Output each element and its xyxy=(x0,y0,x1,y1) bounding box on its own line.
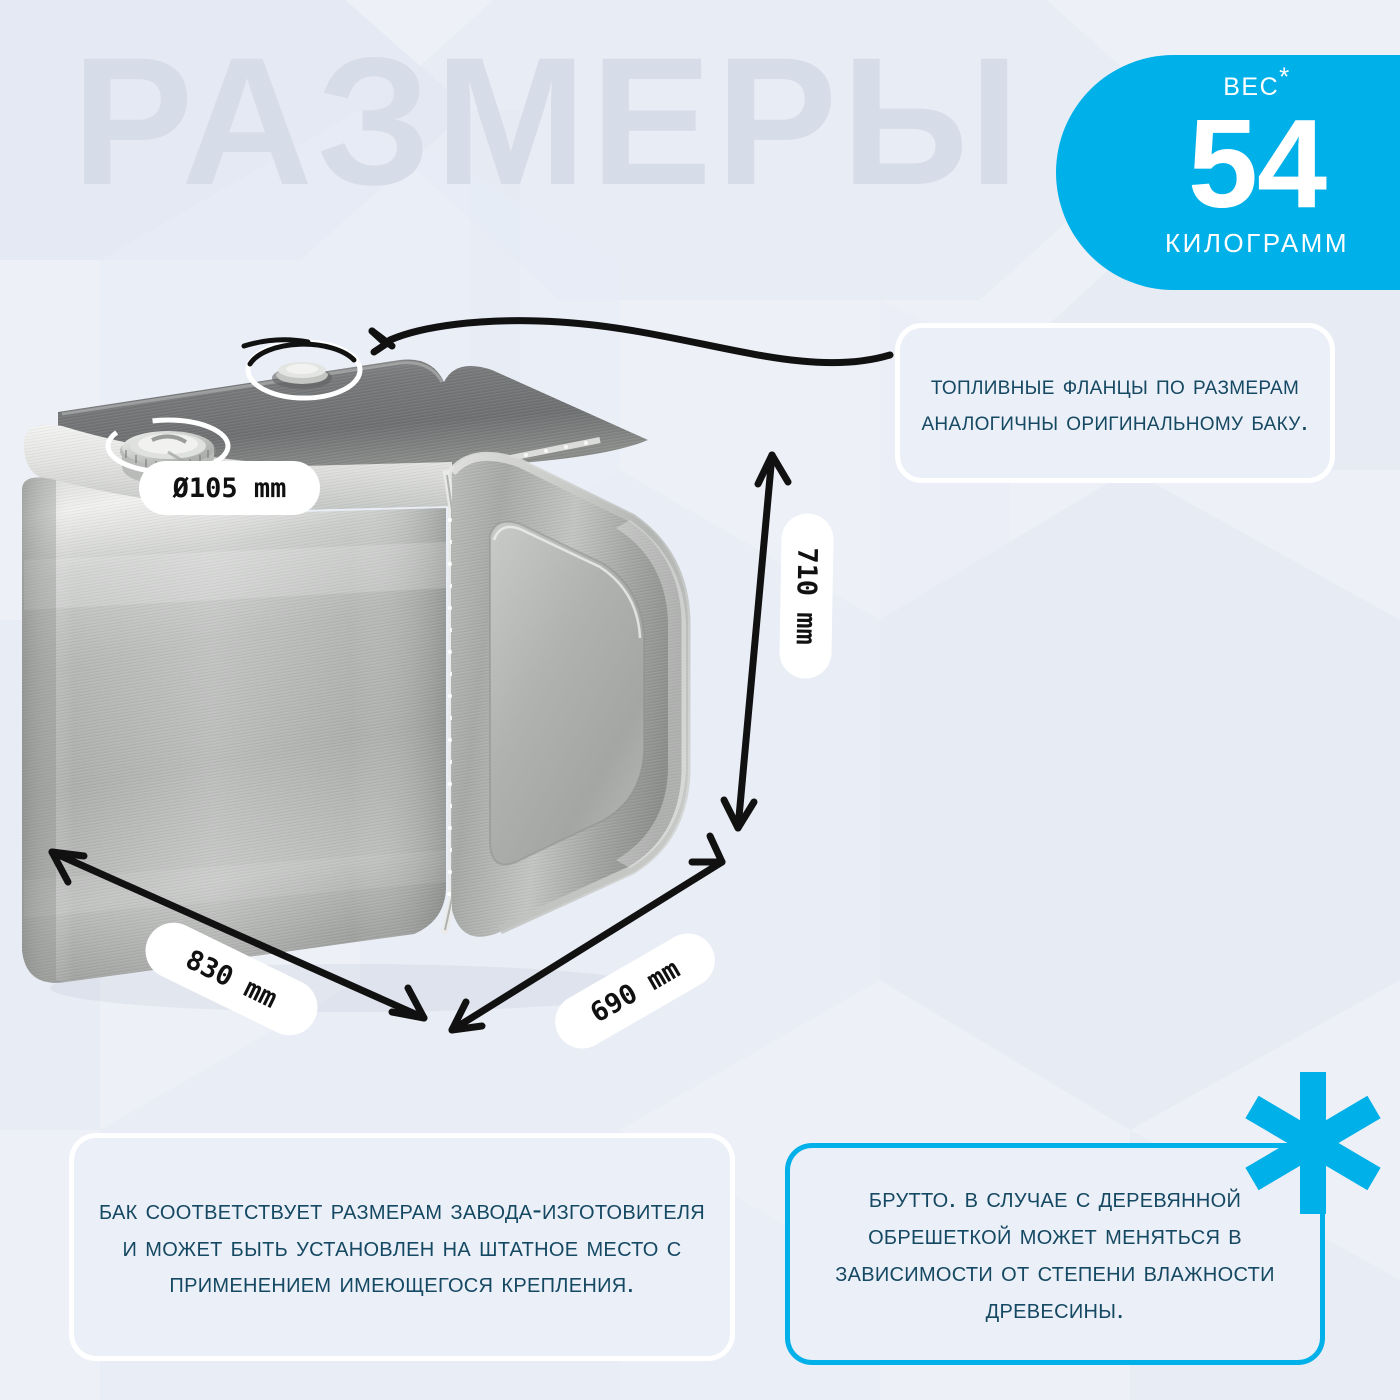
callout-fuel-flanges-text: Топливные Фланцы по размерам аналогичны … xyxy=(900,367,1330,440)
callout-factory-dimensions-text: Бак соответствует размерам завода-изгото… xyxy=(74,1192,730,1303)
weight-badge: ВЕС* 54 КИЛОГРАММ xyxy=(1056,55,1400,290)
page-title: РАЗМЕРЫ xyxy=(72,30,1023,212)
asterisk-icon xyxy=(1238,1068,1388,1218)
fuel-flange xyxy=(272,362,332,389)
weight-unit: КИЛОГРАММ xyxy=(1038,228,1400,259)
tank-front-face xyxy=(22,478,446,983)
fuel-tank-illustration xyxy=(0,320,800,1040)
callout-fuel-flanges: Топливные Фланцы по размерам аналогичны … xyxy=(900,328,1330,478)
weight-value: 54 xyxy=(1038,106,1400,222)
dimension-label-diameter: Ø105 mm xyxy=(139,461,320,515)
callout-factory-dimensions: Бак соответствует размерам завода-изгото… xyxy=(74,1138,730,1356)
dimension-label-height: 710 mm xyxy=(779,513,834,679)
weight-asterisk: * xyxy=(1279,62,1291,92)
tank-end-cap xyxy=(452,453,688,937)
